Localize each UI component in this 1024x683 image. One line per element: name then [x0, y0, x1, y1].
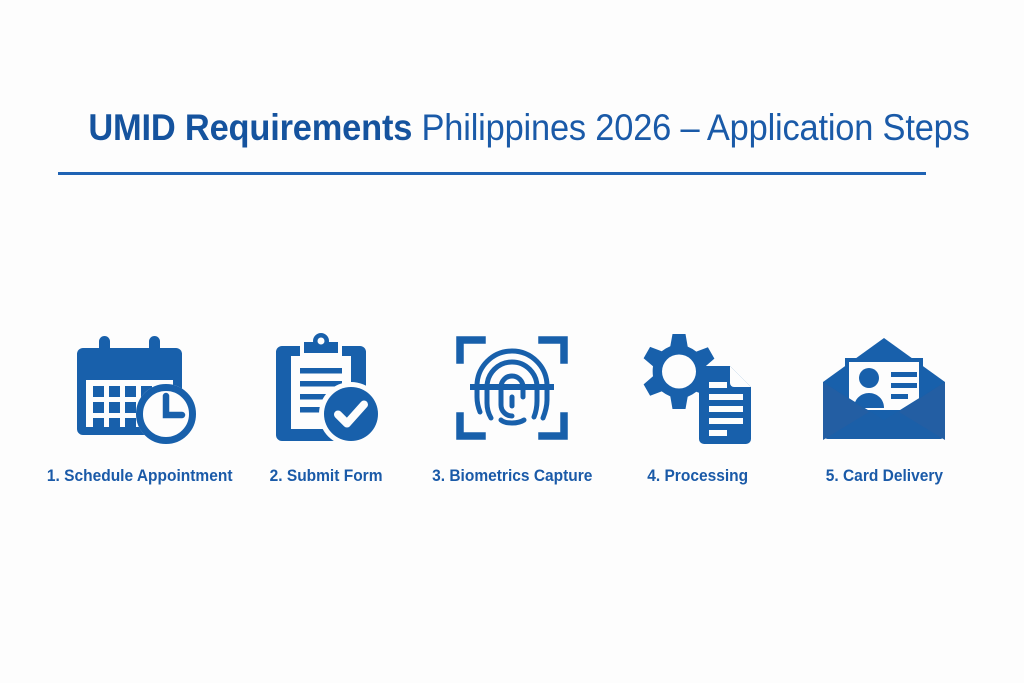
- page-title: UMID Requirements Philippines 2026 – App…: [88, 105, 895, 151]
- step-processing[interactable]: 4. Processing: [605, 330, 791, 486]
- step-schedule-appointment[interactable]: 1. Schedule Appointment: [47, 330, 233, 486]
- page-title-light: Philippines 2026 – Application Steps: [412, 107, 969, 148]
- page-title-strong: UMID Requirements: [88, 107, 412, 148]
- fingerprint-scan-icon: [449, 330, 575, 445]
- clipboard-check-icon: [263, 330, 389, 445]
- step-label: 2. Submit Form: [270, 467, 383, 486]
- title-divider: [58, 172, 926, 175]
- step-label: 3. Biometrics Capture: [432, 467, 592, 486]
- step-card-delivery[interactable]: 5. Card Delivery: [791, 330, 977, 486]
- step-label: 4. Processing: [648, 467, 749, 486]
- page-header: UMID Requirements Philippines 2026 – App…: [58, 105, 926, 151]
- calendar-clock-icon: [77, 330, 203, 445]
- step-label: 1. Schedule Appointment: [47, 467, 233, 486]
- step-biometrics-capture[interactable]: 3. Biometrics Capture: [419, 330, 605, 486]
- envelope-id-card-icon: [821, 330, 947, 445]
- step-submit-form[interactable]: 2. Submit Form: [233, 330, 419, 486]
- step-label: 5. Card Delivery: [825, 467, 942, 486]
- gear-document-icon: [635, 330, 761, 445]
- application-steps-row: 1. Schedule Appointment 2. Su: [0, 330, 1024, 486]
